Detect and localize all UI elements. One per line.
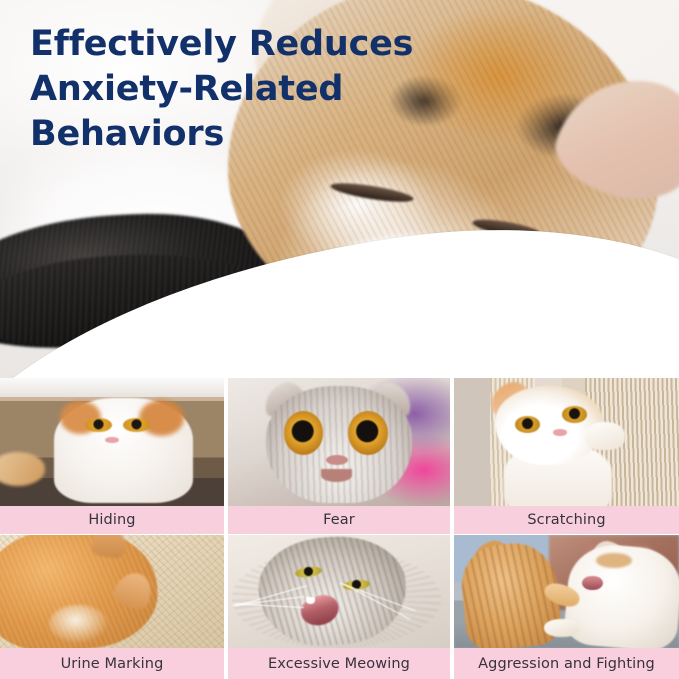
behavior-label: Excessive Meowing bbox=[268, 656, 410, 672]
cats-fighting-photo bbox=[454, 535, 679, 648]
behavior-label: Hiding bbox=[88, 512, 135, 528]
label-strip: Hiding bbox=[0, 506, 224, 534]
cat-open-mouth bbox=[582, 576, 602, 591]
thumbnail bbox=[0, 378, 224, 506]
cat-tail bbox=[0, 452, 45, 485]
cat-paw bbox=[544, 619, 580, 637]
behavior-row: Urine Marking bbox=[0, 535, 679, 679]
cat-nose bbox=[553, 429, 567, 435]
behavior-cell-hiding[interactable]: Hiding bbox=[0, 378, 224, 534]
cat-mouth bbox=[321, 469, 352, 482]
cat-meowing-photo bbox=[228, 535, 450, 648]
label-strip: Fear bbox=[228, 506, 450, 534]
cat-nose bbox=[105, 437, 118, 443]
thumbnail bbox=[228, 535, 450, 648]
cat-paw bbox=[585, 422, 626, 450]
fur-patch bbox=[49, 605, 107, 643]
cat-eye bbox=[515, 416, 540, 433]
cat-urine-marking-photo bbox=[0, 535, 224, 648]
cat-nose bbox=[326, 455, 348, 465]
label-strip: Aggression and Fighting bbox=[454, 648, 679, 679]
behavior-label: Fear bbox=[323, 512, 355, 528]
behavior-cell-excessive-meowing[interactable]: Excessive Meowing bbox=[228, 535, 450, 679]
thumbnail bbox=[228, 378, 450, 506]
cat-hiding-photo bbox=[0, 378, 224, 506]
behavior-cell-fear[interactable]: Fear bbox=[228, 378, 450, 534]
ad-creative: Effectively Reduces Anxiety-Related Beha… bbox=[0, 0, 679, 679]
thumbnail bbox=[454, 535, 679, 648]
behavior-row: Hiding Fear bbox=[0, 378, 679, 534]
fur-patch bbox=[139, 400, 184, 436]
label-strip: Urine Marking bbox=[0, 648, 224, 679]
cat-fear-photo bbox=[228, 378, 450, 506]
behavior-label: Aggression and Fighting bbox=[478, 656, 655, 672]
cat-eye bbox=[284, 411, 324, 455]
behavior-cell-urine-marking[interactable]: Urine Marking bbox=[0, 535, 224, 679]
cat-scratching-photo bbox=[454, 378, 679, 506]
fur-patch bbox=[596, 553, 632, 568]
behavior-grid: Hiding Fear bbox=[0, 378, 679, 679]
headline-line-1: Effectively Reduces bbox=[30, 22, 430, 67]
cat-eye bbox=[85, 418, 112, 432]
hero-banner: Effectively Reduces Anxiety-Related Beha… bbox=[0, 0, 679, 400]
label-strip: Scratching bbox=[454, 506, 679, 534]
cat-eye bbox=[348, 411, 388, 455]
cat-eye bbox=[123, 418, 150, 432]
behavior-cell-scratching[interactable]: Scratching bbox=[454, 378, 679, 534]
behavior-label: Urine Marking bbox=[61, 656, 164, 672]
cat-eye bbox=[562, 406, 587, 423]
page-title: Effectively Reduces Anxiety-Related Beha… bbox=[30, 22, 430, 157]
cat-head bbox=[495, 386, 603, 465]
headline-line-3: Behaviors bbox=[30, 112, 430, 157]
shelf bbox=[0, 378, 224, 397]
label-strip: Excessive Meowing bbox=[228, 648, 450, 679]
behavior-label: Scratching bbox=[527, 512, 605, 528]
headline-line-2: Anxiety-Related bbox=[30, 67, 430, 112]
behavior-cell-aggression-and-fighting[interactable]: Aggression and Fighting bbox=[454, 535, 679, 679]
thumbnail bbox=[454, 378, 679, 506]
cat-tooth bbox=[306, 597, 315, 604]
thumbnail bbox=[0, 535, 224, 648]
